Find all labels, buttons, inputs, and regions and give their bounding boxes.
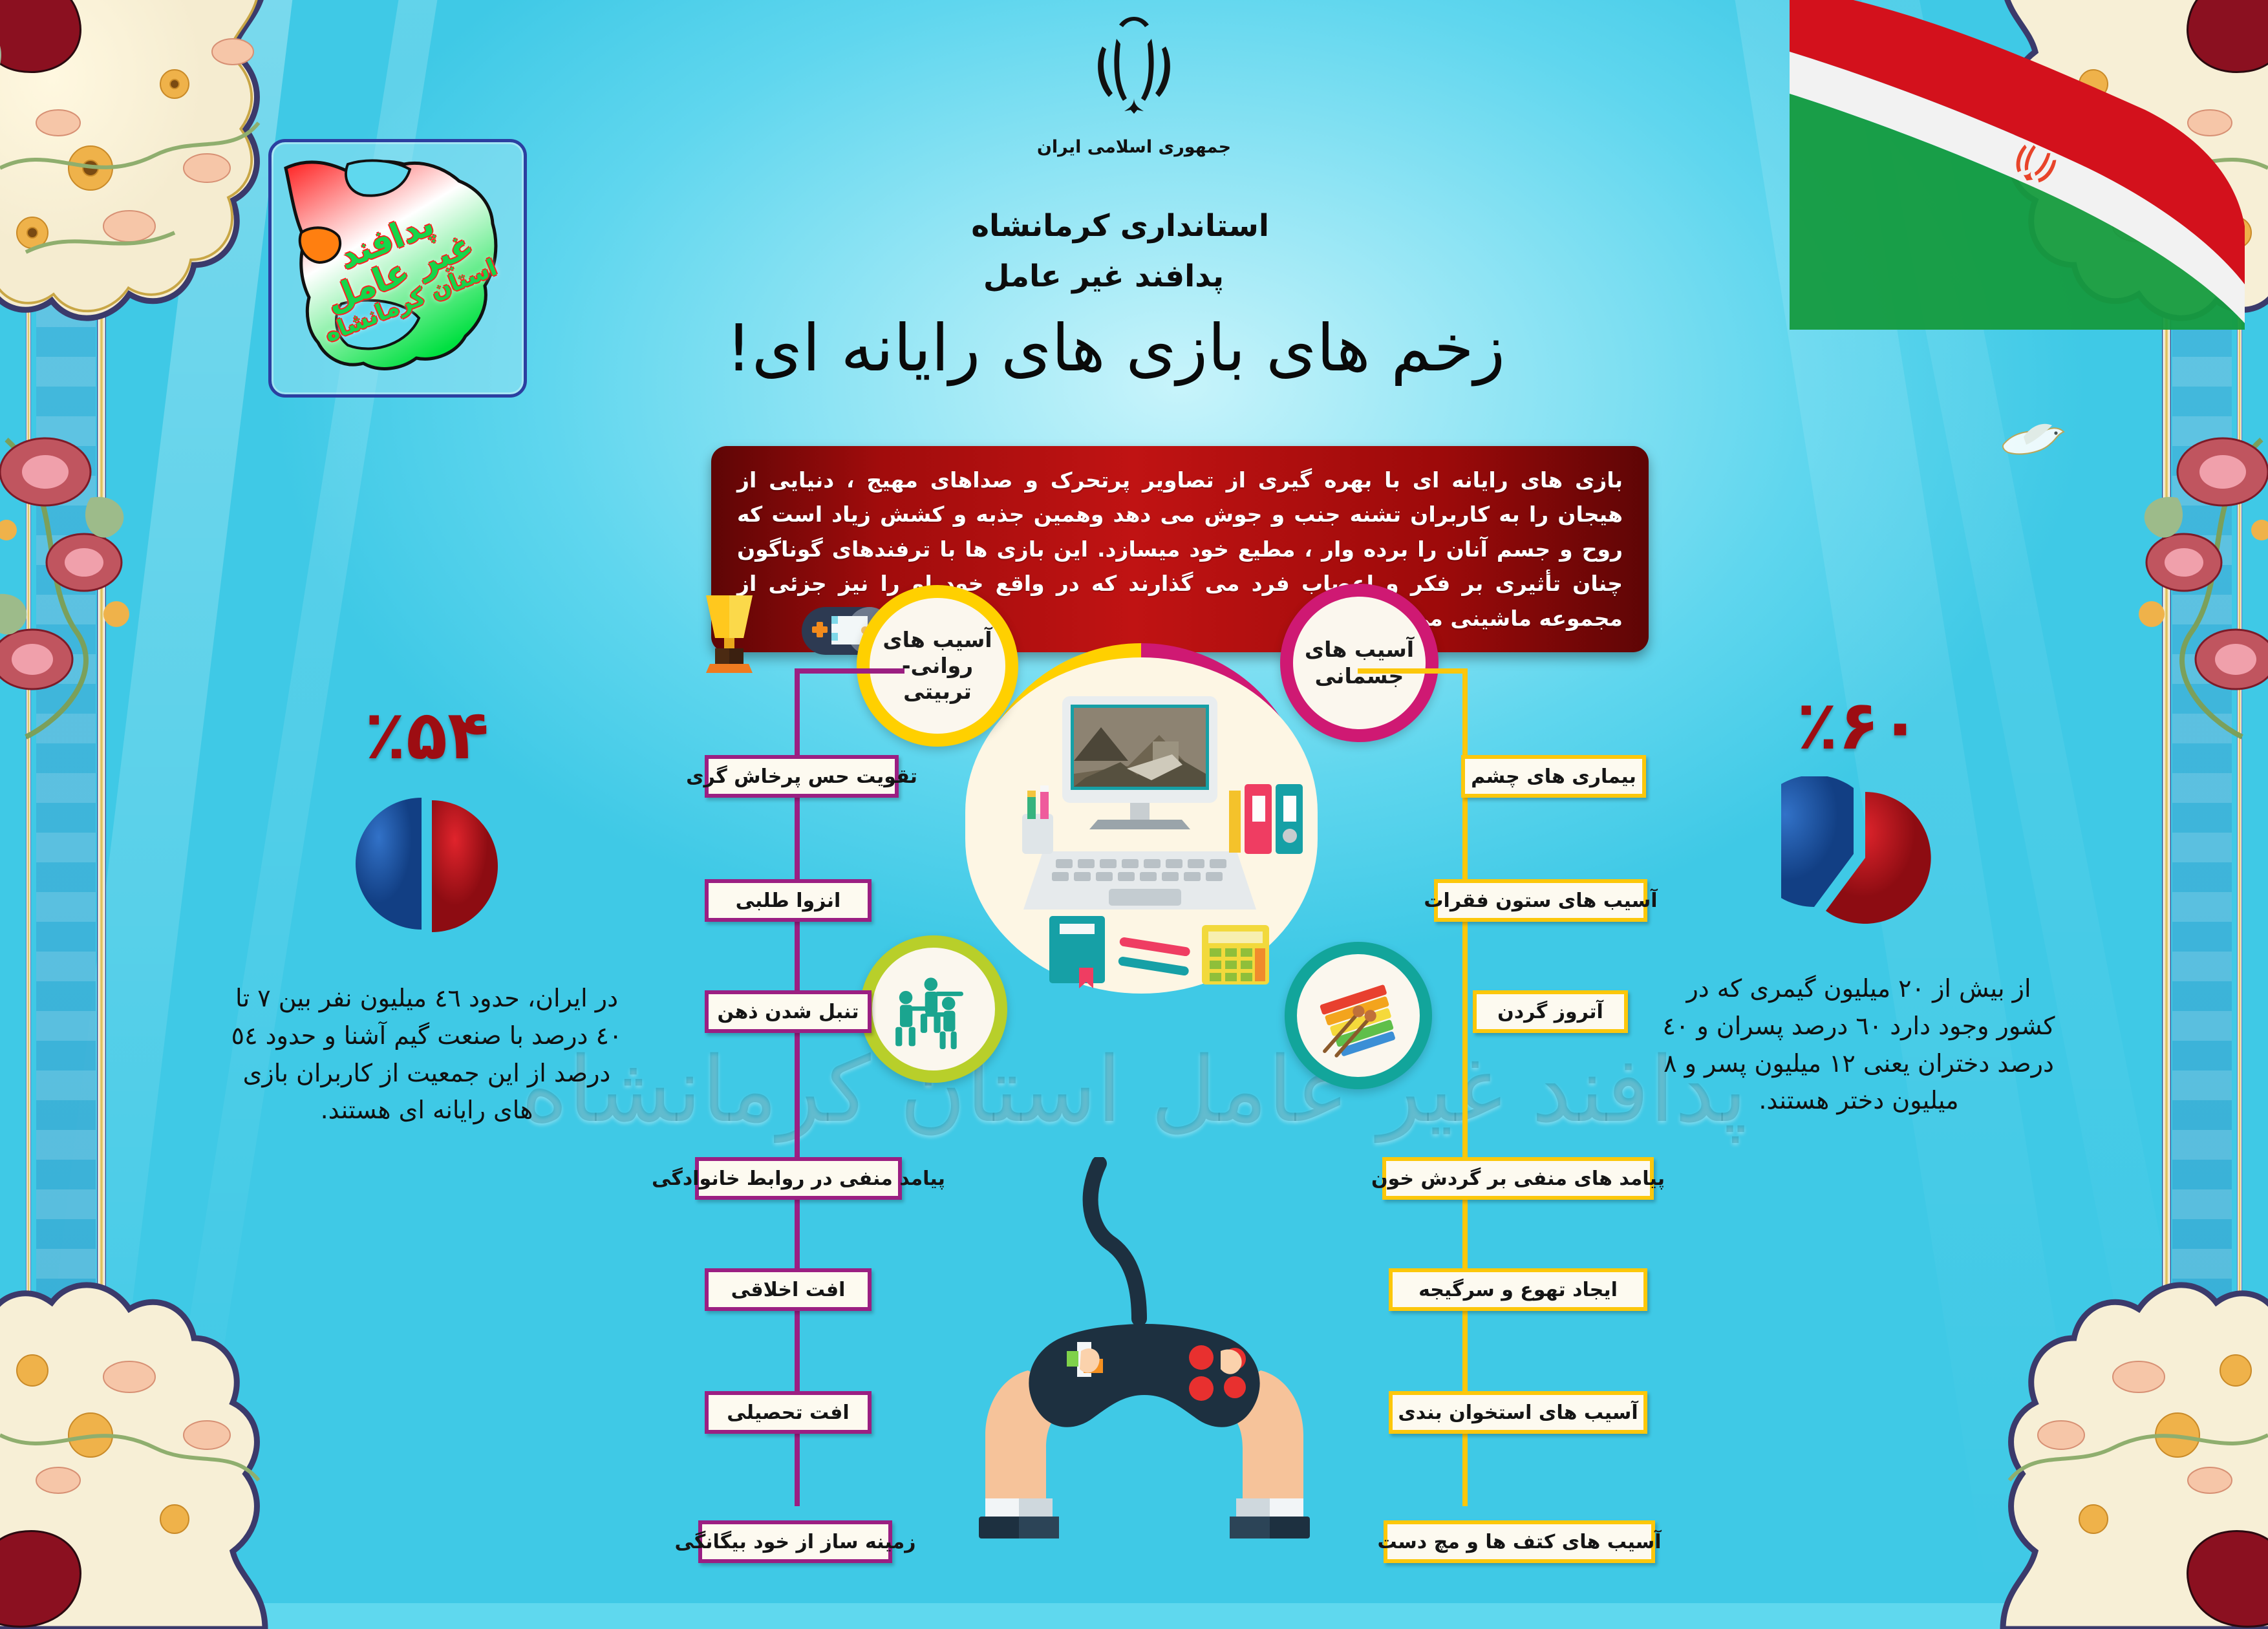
bubble-psych-line-2: روانی-تربیتی — [902, 653, 973, 704]
dove-icon — [1996, 407, 2068, 465]
connector-top-physical — [1358, 668, 1468, 674]
label-phys-3-text: پیامد های منفی بر گردش خون — [1371, 1167, 1665, 1190]
connector-top-psychological — [795, 668, 904, 674]
label-phys-1: آسیب های ستون فقرات — [1434, 879, 1647, 922]
toy-soldiers-icon — [890, 965, 978, 1054]
label-phys-6-text: آسیب های کتف ها و مچ دست — [1378, 1531, 1662, 1553]
bubble-xylophone — [1285, 942, 1432, 1089]
label-psych-1-text: انزوا طلبی — [736, 889, 841, 912]
label-psych-3-text: پیامد منفی در روابط خانوادگی — [652, 1167, 945, 1190]
gamepad-in-hands-icon — [963, 1157, 1325, 1558]
label-psych-2-text: تنبل شدن ذهن — [717, 1001, 859, 1023]
bubble-psychological-damage: آسیب های روانی-تربیتی — [857, 585, 1018, 747]
label-phys-2: آتروز گردن — [1473, 990, 1628, 1033]
label-phys-0-text: بیماری های چشم — [1471, 765, 1636, 788]
label-psych-2: تنبل شدن ذهن — [705, 990, 872, 1033]
stat-right-percent: ٪۶۰ — [1645, 692, 2072, 760]
frame-band-left — [36, 0, 96, 1603]
iran-flag-ribbon-icon — [1783, 0, 2249, 330]
bubble-psych-line-1: آسیب های — [883, 627, 992, 652]
bubble-toy-soldiers — [860, 935, 1007, 1083]
center-ring-diagram: آسیب های روانی-تربیتی آسیب های جسمانی — [895, 598, 1387, 1050]
frame-edge-left — [26, 0, 31, 1603]
label-psych-0-text: تقویت حس پرخاش گری — [686, 765, 917, 788]
stat-panel-right: ٪۶۰ از بیش از ۲۰ میلیون گیمری که در کشور… — [1645, 692, 2072, 1120]
stat-left-pie-chart — [349, 786, 504, 941]
label-psych-6-text: زمینه ساز از خود بیگانگی — [674, 1531, 915, 1553]
label-phys-4-text: ایجاد تهوع و سرگیجه — [1418, 1279, 1618, 1301]
label-psych-0: تقویت حس پرخاش گری — [705, 755, 899, 798]
label-psych-1: انزوا طلبی — [705, 879, 872, 922]
label-psych-3: پیامد منفی در روابط خانوادگی — [695, 1157, 902, 1200]
stat-left-description: در ایران، حدود ٤٦ میلیون نفر بین ۷ تا ٤۰… — [213, 980, 640, 1129]
label-phys-6: آسیب های کتف ها و مچ دست — [1384, 1520, 1655, 1563]
label-psych-4-text: افت اخلاقی — [731, 1279, 846, 1301]
label-phys-4: ایجاد تهوع و سرگیجه — [1389, 1268, 1647, 1311]
iran-emblem-icon — [1086, 13, 1182, 126]
label-phys-2-text: آتروز گردن — [1497, 1001, 1603, 1023]
computer-desk-icon — [965, 657, 1318, 994]
label-psych-4: افت اخلاقی — [705, 1268, 872, 1311]
stat-right-description: از بیش از ۲۰ میلیون گیمری که در کشور وجو… — [1645, 970, 2072, 1120]
bubble-phys-line-1: آسیب های — [1305, 637, 1414, 662]
label-phys-5-text: آسیب های استخوان بندی — [1398, 1401, 1638, 1424]
bubble-phys-line-2: جسمانی — [1315, 663, 1404, 688]
label-phys-1-text: آسیب های ستون فقرات — [1424, 889, 1657, 912]
stat-right-pie-chart — [1781, 776, 1936, 932]
organization-line-1: استانداری کرمانشاه — [971, 208, 1269, 244]
stat-panel-left: ٪۵۴ در ایران، حدود ٤٦ میلیون نفر بین ۷ ت… — [213, 701, 640, 1129]
kermanshah-map-badge: پدافند غیر عامل استان کرمانشاه — [268, 139, 527, 398]
label-psych-5: افت تحصیلی — [705, 1391, 872, 1434]
emblem-caption: جمهوری اسلامی ایران — [1037, 137, 1231, 157]
label-phys-0: بیماری های چشم — [1461, 755, 1646, 798]
xylophone-icon — [1314, 972, 1403, 1060]
page-title: زخم های بازی های رایانه ای! — [726, 310, 1505, 386]
frame-line-left — [97, 0, 106, 1603]
organization-line-2: پدافند غیر عامل — [983, 259, 1224, 294]
label-phys-3: پیامد های منفی بر گردش خون — [1382, 1157, 1654, 1200]
trophy-icon — [698, 591, 760, 676]
label-psych-6: زمینه ساز از خود بیگانگی — [698, 1520, 892, 1563]
label-phys-5: آسیب های استخوان بندی — [1389, 1391, 1647, 1434]
stat-left-percent: ٪۵۴ — [213, 701, 640, 769]
label-psych-5-text: افت تحصیلی — [727, 1401, 849, 1424]
bubble-physical-damage: آسیب های جسمانی — [1280, 584, 1439, 742]
